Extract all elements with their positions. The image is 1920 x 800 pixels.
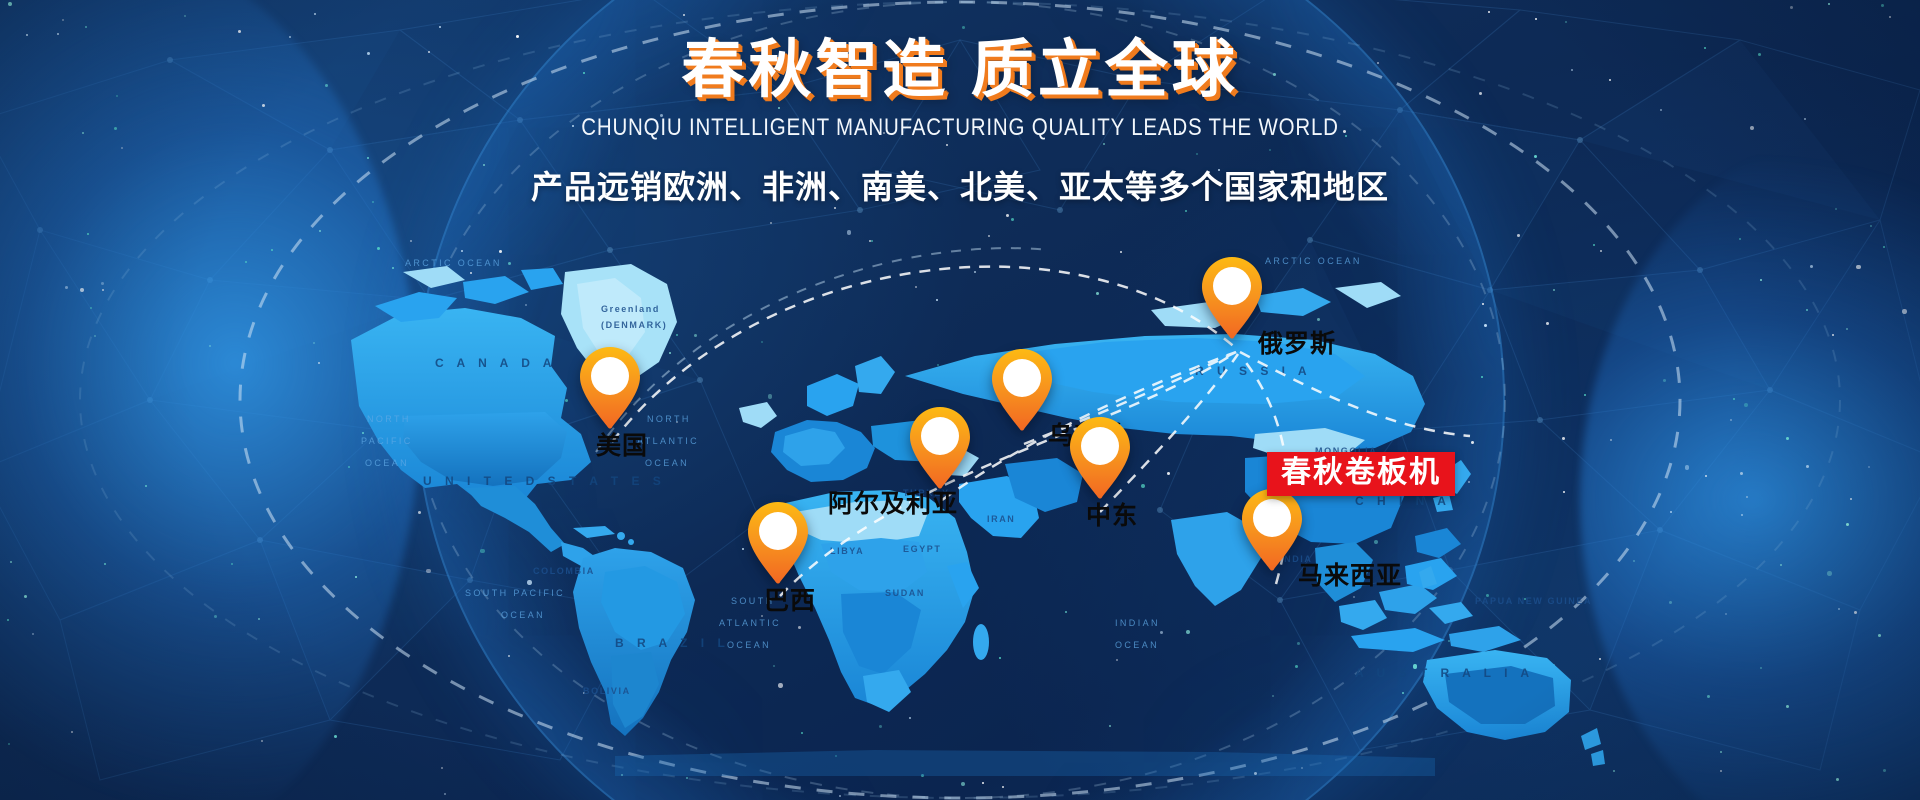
star-dot: [258, 618, 260, 620]
star-dot: [1488, 11, 1490, 13]
star-dot: [85, 26, 87, 28]
star-dot: [8, 743, 10, 745]
star-dot: [1832, 334, 1834, 336]
star-dot: [1827, 571, 1832, 576]
star-dot: [271, 249, 273, 251]
star-dot: [94, 335, 96, 337]
star-dot: [1002, 786, 1004, 788]
star-dot: [1725, 613, 1727, 615]
marker-label: 马来西亚: [1298, 556, 1402, 592]
star-dot: [1744, 403, 1749, 408]
star-dot: [770, 222, 772, 224]
star-dot: [245, 261, 247, 263]
star-dot: [1707, 695, 1710, 698]
star-dot: [1850, 498, 1852, 500]
star-dot: [1685, 465, 1690, 470]
star-dot: [961, 782, 966, 787]
star-dot: [65, 286, 68, 289]
star-dot: [1633, 560, 1635, 562]
star-dot: [1878, 634, 1881, 637]
star-dot: [444, 793, 446, 795]
star-dot: [1720, 770, 1722, 772]
star-dot: [1739, 238, 1741, 240]
star-dot: [1610, 439, 1612, 441]
star-dot: [1883, 769, 1886, 772]
star-dot: [1746, 496, 1748, 498]
star-dot: [1535, 18, 1537, 20]
star-dot: [90, 307, 92, 309]
star-dot: [1733, 398, 1735, 400]
star-dot: [1835, 208, 1837, 210]
star-dot: [1806, 309, 1808, 311]
marker-label: 巴西: [764, 581, 816, 617]
star-dot: [1760, 279, 1762, 281]
world-map: ARCTIC OCEANARCTIC OCEANNORTHPACIFICOCEA…: [315, 236, 1605, 776]
star-dot: [1786, 437, 1789, 440]
star-dot: [1889, 16, 1891, 18]
star-dot: [1810, 265, 1813, 268]
star-dot: [1730, 419, 1732, 421]
star-dot: [62, 19, 64, 21]
star-dot: [839, 795, 841, 797]
star-dot: [1741, 514, 1743, 516]
star-dot: [847, 230, 852, 235]
star-dot: [1663, 379, 1666, 382]
headline-block: 春秋智造 质立全球 CHUNQIU INTELLIGENT MANUFACTUR…: [0, 36, 1920, 208]
star-dot: [1883, 246, 1885, 248]
star-dot: [1838, 608, 1840, 610]
page-title: 春秋智造 质立全球: [681, 36, 1239, 104]
location-pin-icon[interactable]: [579, 346, 641, 430]
star-dot: [1613, 770, 1615, 772]
location-pin-icon[interactable]: [991, 348, 1053, 432]
star-dot: [1881, 4, 1884, 7]
world-map-svg: [315, 236, 1605, 776]
star-dot: [1185, 210, 1187, 212]
star-dot: [1720, 751, 1722, 753]
star-dot: [1669, 601, 1672, 604]
star-dot: [71, 731, 73, 733]
star-dot: [1740, 472, 1743, 475]
star-dot: [261, 740, 263, 742]
star-dot: [1786, 705, 1789, 708]
star-dot: [982, 782, 984, 784]
star-dot: [683, 14, 685, 16]
star-dot: [7, 619, 9, 621]
star-dot: [184, 15, 186, 17]
star-dot: [101, 282, 104, 285]
star-dot: [1828, 3, 1830, 5]
star-dot: [1902, 309, 1907, 314]
page-description: 产品远销欧洲、非洲、南美、北美、亚太等多个国家和地区: [0, 162, 1920, 208]
star-dot: [439, 26, 441, 28]
star-dot: [1790, 6, 1793, 9]
marker-label: 阿尔及利亚: [828, 484, 958, 520]
star-dot: [314, 13, 316, 15]
star-dot: [319, 230, 321, 232]
location-pin-icon[interactable]: [1069, 416, 1131, 500]
star-dot: [1846, 523, 1849, 526]
star-dot: [1846, 328, 1848, 330]
star-dot: [102, 289, 104, 291]
star-dot: [10, 561, 12, 563]
marker-label: 美国: [596, 426, 648, 462]
star-dot: [1780, 564, 1782, 566]
star-dot: [238, 30, 241, 33]
star-dot: [1854, 611, 1857, 614]
location-pin-icon[interactable]: [909, 406, 971, 490]
star-dot: [209, 345, 211, 347]
star-dot: [32, 633, 34, 635]
star-dot: [962, 26, 965, 29]
page-subtitle-english: CHUNQIU INTELLIGENT MANUFACTURING QUALIT…: [0, 114, 1920, 142]
star-dot: [87, 233, 89, 235]
star-dot: [1856, 265, 1861, 270]
product-badge[interactable]: 春秋卷板机: [1267, 452, 1455, 496]
promo-banner: ARCTIC OCEANARCTIC OCEANNORTHPACIFICOCEA…: [0, 0, 1920, 800]
location-pin-icon[interactable]: [747, 501, 809, 585]
star-dot: [8, 2, 13, 7]
star-dot: [1806, 465, 1809, 468]
location-pin-icon[interactable]: [1241, 488, 1303, 572]
star-dot: [1868, 466, 1870, 468]
star-dot: [145, 485, 147, 487]
star-dot: [80, 288, 85, 293]
star-dot: [231, 563, 233, 565]
star-dot: [1705, 475, 1707, 477]
star-dot: [1565, 21, 1567, 23]
star-dot: [1836, 778, 1839, 781]
star-dot: [1670, 511, 1672, 513]
star-dot: [1760, 667, 1762, 669]
star-dot: [1011, 218, 1014, 221]
star-dot: [1006, 214, 1009, 217]
star-dot: [24, 595, 27, 598]
location-pin-icon[interactable]: [1201, 256, 1263, 340]
marker-label: 俄罗斯: [1258, 324, 1336, 360]
marker-label: 中东: [1086, 496, 1138, 532]
star-dot: [214, 615, 217, 618]
star-dot: [1870, 225, 1872, 227]
star-dot: [686, 777, 688, 779]
star-dot: [104, 563, 106, 565]
